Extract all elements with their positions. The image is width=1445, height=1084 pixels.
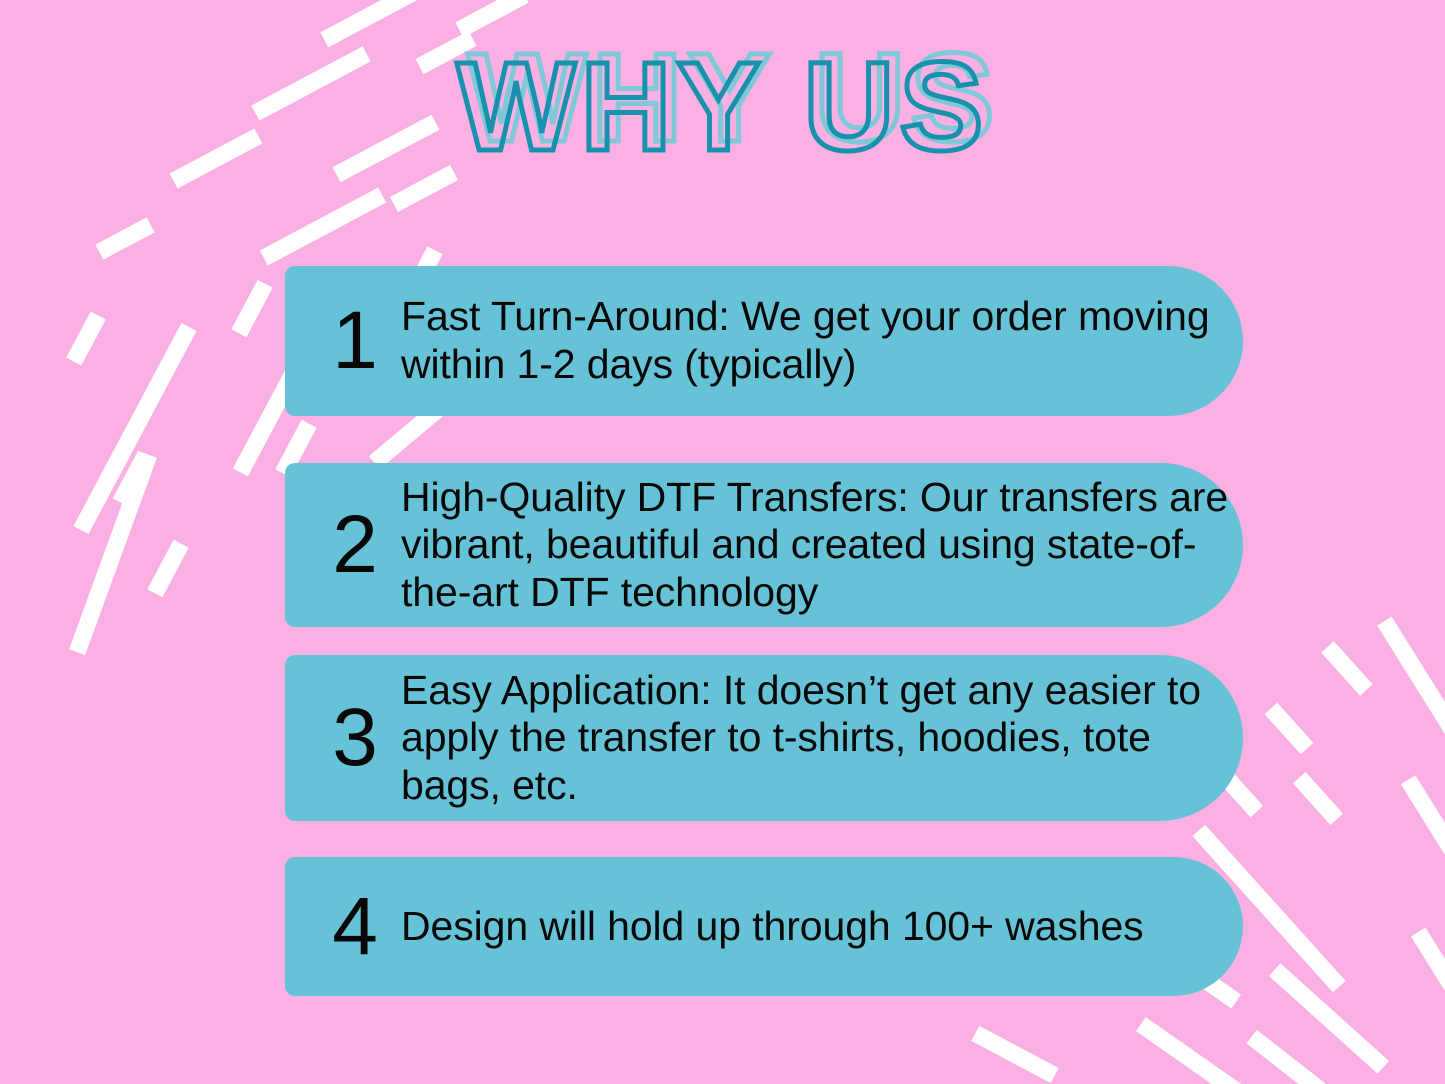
benefit-number: 2 xyxy=(309,504,401,586)
decorative-dash xyxy=(69,452,157,655)
benefit-number: 4 xyxy=(309,886,401,968)
decorative-dash xyxy=(74,323,197,534)
decorative-dash xyxy=(1136,1017,1244,1084)
decorative-dash xyxy=(95,217,154,259)
decorative-dash xyxy=(260,188,386,266)
benefit-card: 4 Design will hold up through 100+ washe… xyxy=(285,857,1243,996)
decorative-dash xyxy=(1377,617,1445,801)
decorative-dash xyxy=(971,1026,1058,1083)
poster-canvas: WHY US WHY US 1 Fast Turn-Around: We get… xyxy=(0,0,1445,1084)
decorative-dash xyxy=(1269,963,1389,1073)
benefit-text: Fast Turn-Around: We get your order movi… xyxy=(401,293,1243,388)
poster-title: WHY US WHY US xyxy=(0,44,1445,174)
decorative-dash xyxy=(66,312,105,366)
benefit-card: 1 Fast Turn-Around: We get your order mo… xyxy=(285,266,1243,416)
decorative-dash xyxy=(1246,1030,1343,1084)
benefit-text: High-Quality DTF Transfers: Our transfer… xyxy=(401,474,1243,617)
benefit-number: 1 xyxy=(309,300,401,382)
decorative-dash xyxy=(1401,775,1445,921)
decorative-dash xyxy=(147,540,188,597)
decorative-dash xyxy=(320,0,423,47)
decorative-dash xyxy=(113,451,153,507)
benefit-card: 3 Easy Application: It doesn’t get any e… xyxy=(285,655,1243,821)
decorative-dash xyxy=(231,280,272,337)
benefit-text: Easy Application: It doesn’t get any eas… xyxy=(401,667,1243,810)
benefit-number: 3 xyxy=(309,697,401,779)
decorative-dash xyxy=(1265,703,1314,755)
decorative-dash xyxy=(1293,772,1343,825)
decorative-dash xyxy=(1321,641,1372,695)
benefit-text: Design will hold up through 100+ washes xyxy=(401,903,1144,951)
decorative-dash xyxy=(1411,928,1445,1010)
poster-title-text: WHY US xyxy=(457,36,989,177)
benefit-card: 2 High-Quality DTF Transfers: Our transf… xyxy=(285,463,1243,627)
